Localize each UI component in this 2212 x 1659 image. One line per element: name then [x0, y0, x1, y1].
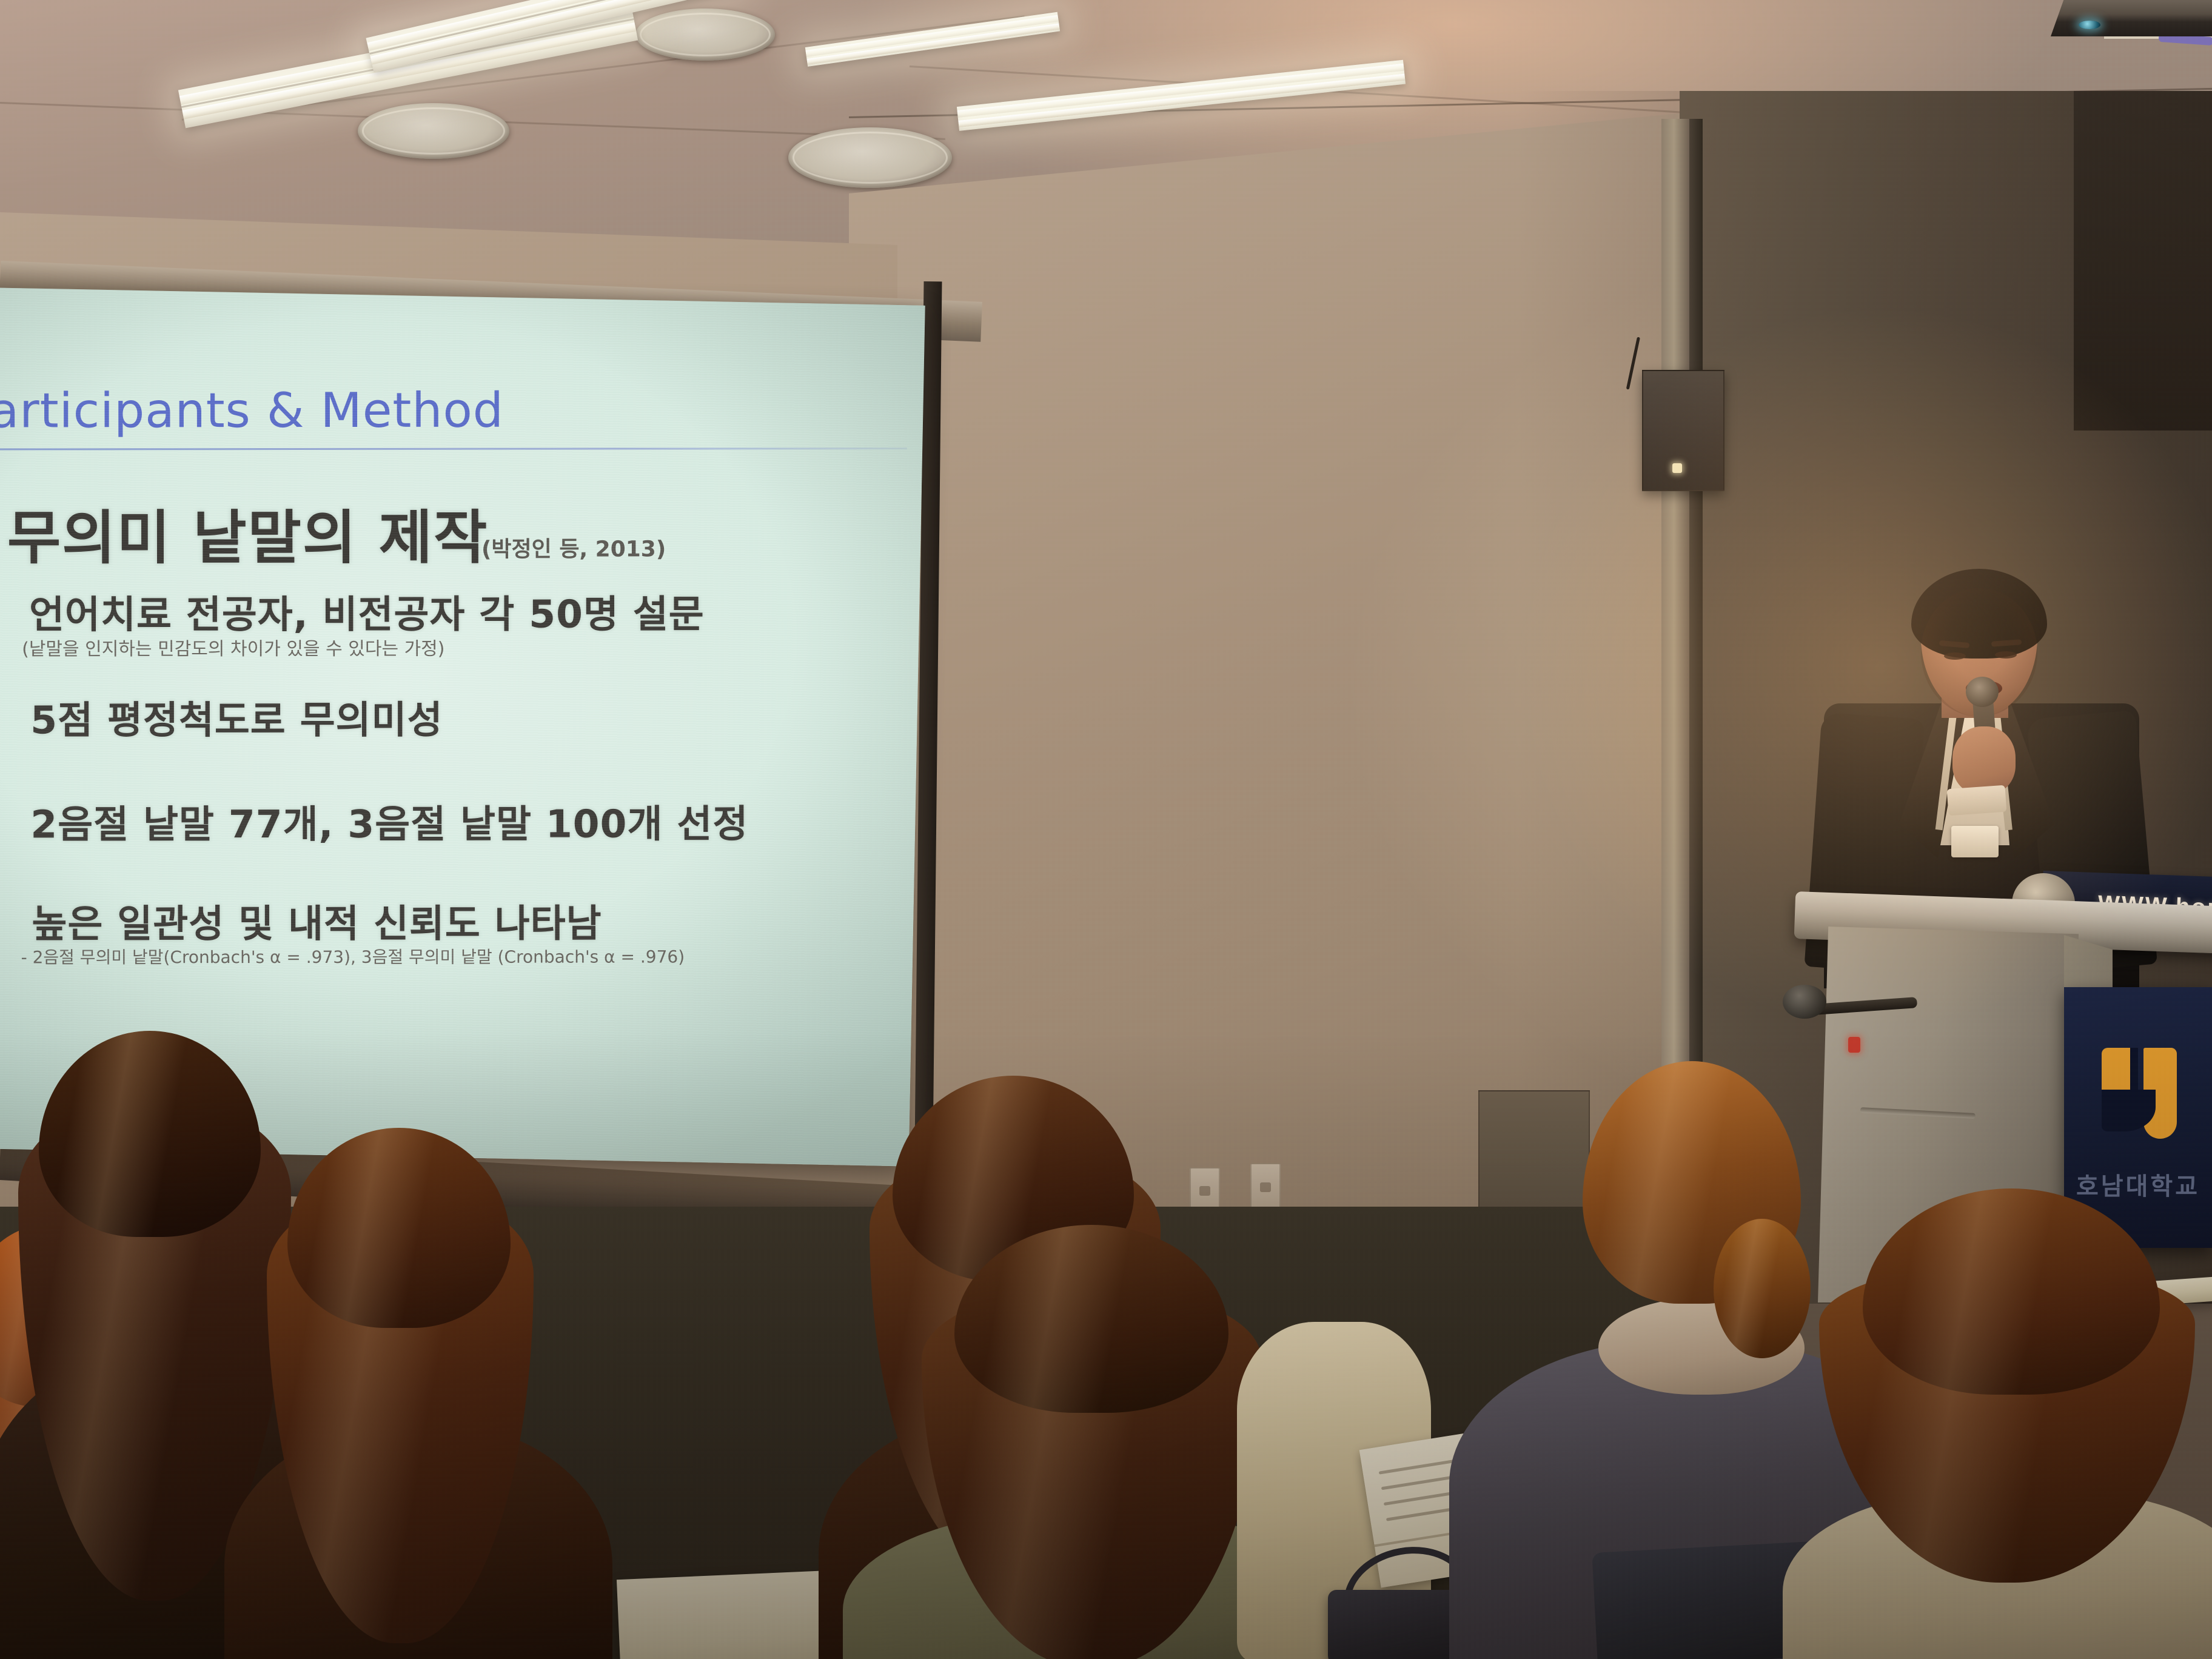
slide-header-rule	[0, 447, 907, 450]
recessed-round-light-left	[358, 103, 509, 159]
slide-bullet-4: 높은 일관성 및 내적 신뢰도 나타남	[32, 893, 602, 949]
audience-member-center-front	[910, 1225, 1267, 1659]
wall-column-trim	[1661, 119, 1689, 1186]
speaker-box	[1642, 370, 1724, 491]
presenter-eye-left	[1944, 652, 1966, 660]
slide-citation: (박정인 등, 2013)	[481, 531, 666, 563]
audience-member-left-inner	[261, 1116, 546, 1659]
left-hair	[39, 1031, 261, 1237]
slide-bullet-3: 2음절 낱말 77개, 3음절 낱말 100개 선정	[30, 793, 748, 849]
slide-bullet-1-subnote: (낱말을 인지하는 민감도의 차이가 있을 수 있다는 가정)	[22, 634, 444, 661]
ceiling-projector	[2051, 0, 2212, 36]
microphone-head[interactable]	[1966, 677, 1999, 707]
recessed-round-light-right	[635, 8, 775, 61]
left-inner-hair	[287, 1128, 511, 1328]
wall-switch-plate	[1250, 1163, 1281, 1212]
slide-bullet-1: 언어치료 전공자, 비전공자 각 50명 설문	[29, 583, 705, 639]
presenter-eye-right	[1995, 651, 2017, 659]
slide-heading: 무의미 낱말의 제작	[7, 491, 489, 575]
presenter-badge	[1951, 826, 1999, 857]
center-front-hair	[954, 1225, 1228, 1413]
recessed-round-light-center	[788, 127, 952, 188]
far-right-hair	[1863, 1188, 2160, 1395]
wall-column-shadow	[1689, 119, 1703, 1186]
right-ponytail-bun	[1714, 1219, 1811, 1358]
presenter-shirt-cuff	[1947, 785, 2007, 816]
slide-bullet-2: 5점 평정척도로 무의미성	[30, 689, 443, 745]
presenter-hand	[1952, 726, 2016, 794]
podium-mic-head[interactable]	[1783, 985, 1826, 1019]
audience-member-far-right	[1807, 1188, 2212, 1659]
slide-header-title: Participants & Method	[0, 383, 504, 439]
slide-bullet-4-subnote: - 2음절 무의미 낱말(Cronbach's α = .973), 3음절 무…	[21, 943, 685, 968]
conference-room-photo: Participants & Method 무의미 낱말의 제작 (박정인 등,…	[0, 0, 2212, 1659]
university-book-logo-icon	[2102, 1048, 2177, 1139]
